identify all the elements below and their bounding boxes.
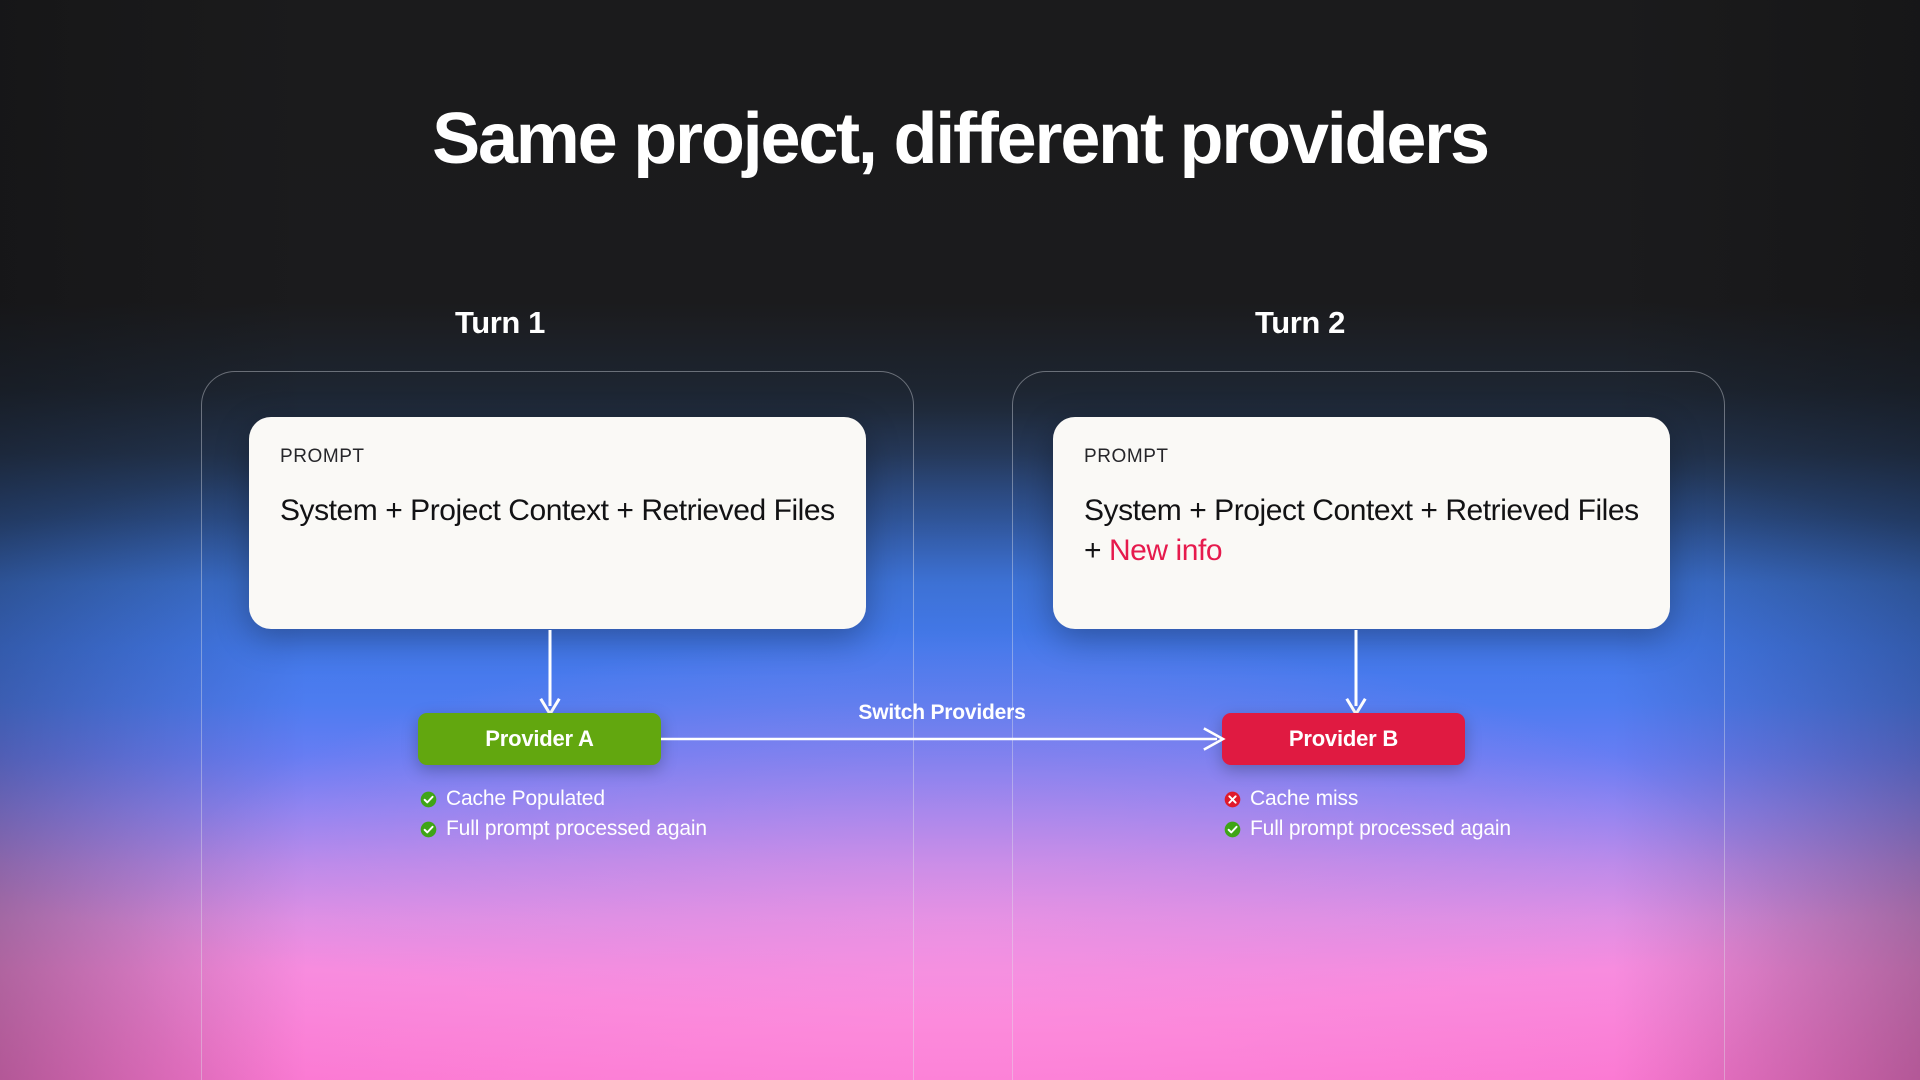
status-text: Cache Populated [446, 786, 605, 812]
provider-b-button[interactable]: Provider B [1222, 713, 1465, 765]
flow-arrow-down-1 [537, 630, 563, 716]
slide-canvas: Same project, different providers Turn 1… [0, 0, 1920, 1080]
turn-label-1: Turn 1 [380, 305, 620, 341]
prompt-body-1: System + Project Context + Retrieved Fil… [280, 491, 835, 531]
prompt-eyebrow-2: PROMPT [1084, 447, 1639, 466]
status-row: Full prompt processed again [1224, 816, 1511, 842]
status-list-provider-a: Cache Populated Full prompt processed ag… [420, 786, 707, 842]
check-circle-icon [1224, 821, 1241, 838]
prompt-card-turn-2: PROMPT System + Project Context + Retrie… [1053, 417, 1670, 629]
prompt-body-text-1: System + Project Context + Retrieved Fil… [280, 494, 835, 527]
switch-providers-label: Switch Providers [722, 701, 1162, 725]
switch-providers-arrow [661, 725, 1227, 753]
prompt-eyebrow-1: PROMPT [280, 447, 835, 466]
check-circle-icon [420, 791, 437, 808]
x-circle-icon [1224, 791, 1241, 808]
status-row: Cache miss [1224, 786, 1511, 812]
status-list-provider-b: Cache miss Full prompt processed again [1224, 786, 1511, 842]
provider-b-label: Provider B [1289, 726, 1398, 752]
status-text: Full prompt processed again [1250, 816, 1511, 842]
prompt-body-2: System + Project Context + Retrieved Fil… [1084, 491, 1639, 571]
status-text: Cache miss [1250, 786, 1358, 812]
prompt-card-turn-1: PROMPT System + Project Context + Retrie… [249, 417, 866, 629]
check-circle-icon [420, 821, 437, 838]
provider-a-label: Provider A [485, 726, 593, 752]
prompt-accent-2: New info [1109, 534, 1222, 567]
flow-arrow-down-2 [1343, 630, 1369, 716]
provider-a-button[interactable]: Provider A [418, 713, 661, 765]
page-title: Same project, different providers [0, 103, 1920, 175]
status-row: Full prompt processed again [420, 816, 707, 842]
status-row: Cache Populated [420, 786, 707, 812]
turn-label-2: Turn 2 [1180, 305, 1420, 341]
status-text: Full prompt processed again [446, 816, 707, 842]
